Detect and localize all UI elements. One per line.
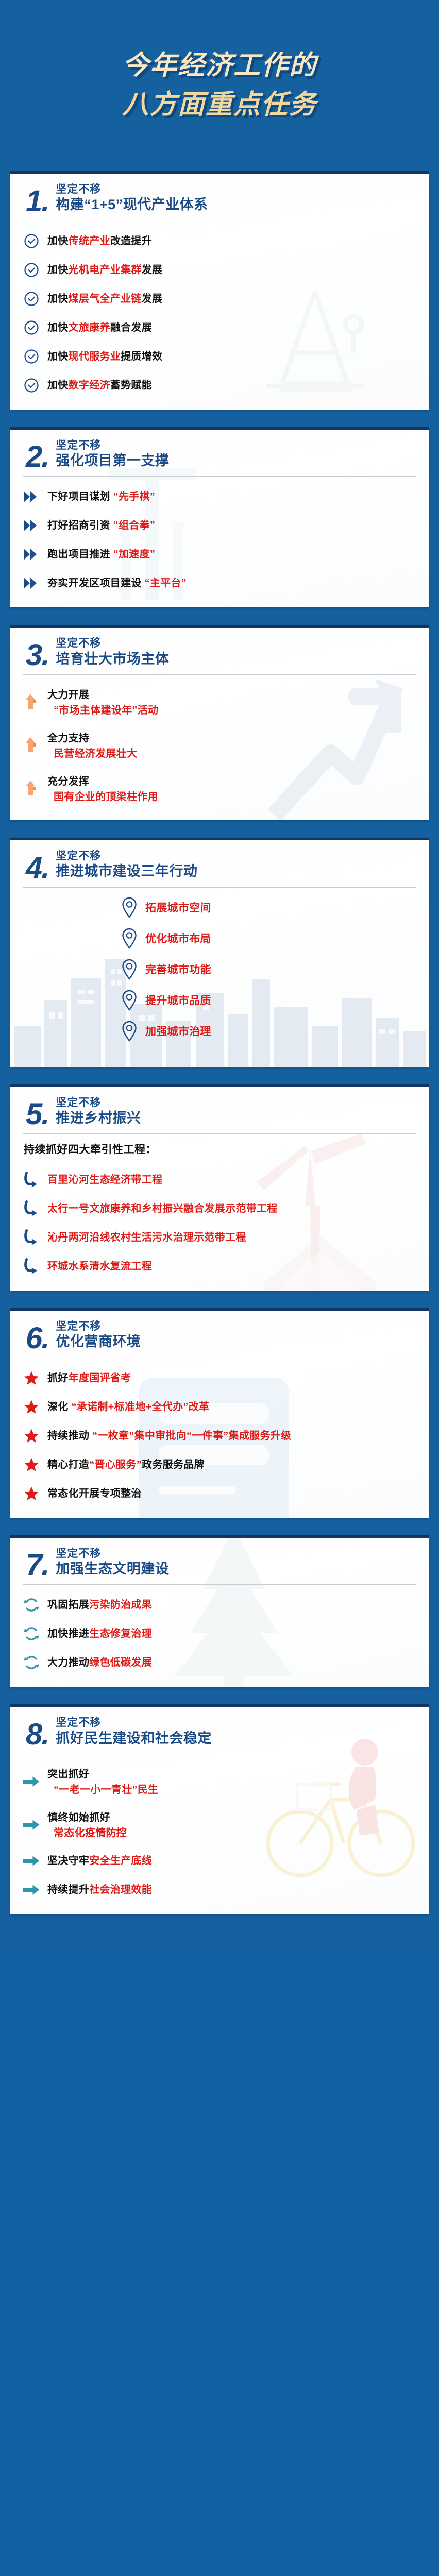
item-highlight: 光机电产业集群 xyxy=(69,264,142,276)
item-text: 完善城市功能 xyxy=(145,964,211,976)
item-prefix: 精心打造 xyxy=(47,1459,89,1470)
item-label: 拓展城市空间 xyxy=(145,899,211,917)
section-card-3: 3. 坚定不移 培育壮大市场主体 大力开展 “市场主体建设年”活动 xyxy=(10,625,429,820)
section-subtitle: 坚定不移 xyxy=(56,183,208,196)
item-line-1: 充分发挥 xyxy=(47,774,158,789)
item-label: 环城水系清水复流工程 xyxy=(47,1258,152,1274)
check-circle-icon xyxy=(23,290,40,308)
check-circle-icon xyxy=(23,319,40,336)
item-text: 沁丹两河沿线农村生活污水治理示范带工程 xyxy=(47,1232,246,1243)
item-highlight: 文旅康养 xyxy=(69,322,110,333)
section-header: 5. 坚定不移 推进乡村振兴 xyxy=(23,1096,416,1132)
item-prefix: 加快 xyxy=(47,322,69,333)
item-text: 提升城市品质 xyxy=(145,995,211,1007)
list-item[interactable]: 坚决守牢安全生产底线 xyxy=(23,1852,416,1870)
hero-title-line2: 八方面重点任务 xyxy=(122,87,317,123)
section-header: 3. 坚定不移 培育壮大市场主体 xyxy=(23,637,416,672)
section-item-list: 拓展城市空间 优化城市布局 完善城市功能 提升城市品质 xyxy=(23,888,416,1040)
map-pin-icon xyxy=(121,930,138,947)
section-header: 7. 坚定不移 加强生态文明建设 xyxy=(23,1547,416,1583)
item-text: 环城水系清水复流工程 xyxy=(47,1261,152,1272)
list-item[interactable]: 加快煤层气全产业链发展 xyxy=(23,290,416,308)
section-header: 1. 坚定不移 构建“1+5”现代产业体系 xyxy=(23,183,416,218)
item-label: 加快数字经济蓄势赋能 xyxy=(47,377,152,393)
list-item[interactable]: 大力开展 “市场主体建设年”活动 xyxy=(23,686,416,718)
star-icon xyxy=(23,1427,40,1445)
list-item[interactable]: 巩固拓展污染防治成果 xyxy=(23,1596,416,1614)
item-highlight: 生态修复治理 xyxy=(89,1628,152,1639)
list-item[interactable]: 加快数字经济蓄势赋能 xyxy=(23,377,416,394)
section-title: 优化营商环境 xyxy=(56,1333,141,1350)
item-label: 加快煤层气全产业链发展 xyxy=(47,290,162,307)
item-label: 加快现代服务业提质增效 xyxy=(47,348,162,364)
item-label: 深化 “承诺制+标准地+全代办”改革 xyxy=(47,1398,209,1415)
teal-arrow-icon xyxy=(23,1852,40,1870)
item-line-2: 民营经济发展壮大 xyxy=(47,746,137,761)
check-circle-icon xyxy=(23,261,40,279)
item-highlight: “组合拳” xyxy=(113,520,156,531)
section-number: 7. xyxy=(23,1552,48,1578)
item-line-1: 慎终如始抓好 xyxy=(47,1810,127,1825)
orange-up-arrow-icon xyxy=(23,780,40,798)
section-number: 1. xyxy=(23,188,48,214)
item-label: 精心打造“晋心服务”政务服务品牌 xyxy=(47,1456,205,1472)
item-label: 坚决守牢安全生产底线 xyxy=(47,1852,152,1869)
item-line-1: 大力开展 xyxy=(47,687,158,703)
item-suffix: 蓄势赋能 xyxy=(110,380,152,391)
list-item[interactable]: 下好项目谋划 “先手棋” xyxy=(23,488,416,505)
star-icon xyxy=(23,1369,40,1387)
item-label: 全力支持 民营经济发展壮大 xyxy=(47,730,137,761)
item-prefix: 夯实开发区项目建设 xyxy=(47,578,145,589)
double-chevron-icon xyxy=(23,488,40,505)
list-item[interactable]: 常态化开展专项整治 xyxy=(23,1485,416,1502)
item-prefix: 打好招商引资 xyxy=(47,520,113,531)
section-header: 4. 坚定不移 推进城市建设三年行动 xyxy=(23,850,416,885)
item-line-2: 国有企业的顶梁柱作用 xyxy=(47,789,158,805)
section-card-8: 8. 坚定不移 抓好民生建设和社会稳定 突出抓好 “一老一小一青壮”民生 xyxy=(10,1704,429,1914)
item-label: 优化城市布局 xyxy=(145,930,211,947)
item-highlight: “加速度” xyxy=(113,549,156,560)
list-item[interactable]: 加快传统产业改造提升 xyxy=(23,232,416,250)
item-highlight: 传统产业 xyxy=(69,235,110,247)
map-pin-icon xyxy=(121,961,138,978)
section-number: 5. xyxy=(23,1101,48,1127)
list-item[interactable]: 太行一号文旅康养和乡村振兴融合发展示范带工程 xyxy=(23,1200,416,1217)
list-item[interactable]: 全力支持 民营经济发展壮大 xyxy=(23,730,416,761)
teal-arrow-icon xyxy=(23,1773,40,1790)
item-highlight: “一枚章”集中审批向“一件事”集成服务升级 xyxy=(92,1430,291,1442)
item-label: 常态化开展专项整治 xyxy=(47,1485,142,1501)
list-item[interactable]: 跑出项目推进 “加速度” xyxy=(23,546,416,563)
item-label: 提升城市品质 xyxy=(145,992,211,1009)
item-prefix: 抓好 xyxy=(47,1372,69,1384)
item-label: 加快推进生态修复治理 xyxy=(47,1625,152,1641)
item-prefix: 加快 xyxy=(47,235,69,247)
list-item[interactable]: 持续提升社会治理效能 xyxy=(23,1881,416,1899)
list-item[interactable]: 加快推进生态修复治理 xyxy=(23,1625,416,1642)
section-title: 培育壮大市场主体 xyxy=(56,651,169,667)
item-label: 完善城市功能 xyxy=(145,961,211,978)
list-item[interactable]: 大力推动绿色低碳发展 xyxy=(23,1654,416,1671)
section-number: 2. xyxy=(23,444,48,470)
item-prefix: 跑出项目推进 xyxy=(47,549,113,560)
star-icon xyxy=(23,1398,40,1416)
item-label: 下好项目谋划 “先手棋” xyxy=(47,488,155,504)
item-highlight: “先手棋” xyxy=(113,491,156,502)
item-highlight: “承诺制+标准地+全代办”改革 xyxy=(71,1401,209,1413)
item-suffix: 发展 xyxy=(142,293,163,304)
list-item[interactable]: 优化城市布局 xyxy=(23,930,416,947)
item-highlight: 社会治理效能 xyxy=(89,1884,152,1895)
item-prefix: 常态化开展专项整治 xyxy=(47,1488,142,1499)
item-line-1: 突出抓好 xyxy=(47,1767,158,1782)
section-title: 推进乡村振兴 xyxy=(56,1110,141,1126)
item-label: 跑出项目推进 “加速度” xyxy=(47,546,155,562)
item-line-1: 全力支持 xyxy=(47,731,137,746)
item-label: 加快文旅康养融合发展 xyxy=(47,319,152,335)
map-pin-icon xyxy=(121,992,138,1009)
section-item-list: 百里沁河生态经济带工程 太行一号文旅康养和乡村振兴融合发展示范带工程 沁丹两河沿… xyxy=(23,1160,416,1275)
section-item-list: 突出抓好 “一老一小一青壮”民生 慎终如始抓好 常态化疫情防控 坚决守牢安全生产… xyxy=(23,1754,416,1899)
double-chevron-icon xyxy=(23,517,40,534)
section-header: 8. 坚定不移 抓好民生建设和社会稳定 xyxy=(23,1716,416,1752)
section-subtitle: 坚定不移 xyxy=(56,1320,141,1333)
bottom-spacer xyxy=(0,1931,439,1935)
section-title: 抓好民生建设和社会稳定 xyxy=(56,1730,212,1747)
check-circle-icon xyxy=(23,377,40,394)
map-pin-icon xyxy=(121,899,138,917)
check-circle-icon xyxy=(23,348,40,365)
item-text: 太行一号文旅康养和乡村振兴融合发展示范带工程 xyxy=(47,1203,278,1214)
section-subtitle: 坚定不移 xyxy=(56,637,169,650)
recycle-icon xyxy=(23,1596,40,1614)
list-item[interactable]: 打好招商引资 “组合拳” xyxy=(23,517,416,534)
item-prefix: 巩固拓展 xyxy=(47,1599,89,1611)
section-subtitle: 坚定不移 xyxy=(56,439,169,452)
item-highlight: “主平台” xyxy=(145,578,187,589)
item-prefix: 加快 xyxy=(47,264,69,276)
item-highlight: 污染防治成果 xyxy=(89,1599,152,1611)
section-card-7: 7. 坚定不移 加强生态文明建设 巩固拓展污染防治成果 xyxy=(10,1535,429,1687)
double-chevron-icon xyxy=(23,574,40,592)
item-label: 充分发挥 国有企业的顶梁柱作用 xyxy=(47,773,158,805)
section-card-4: 4. 坚定不移 推进城市建设三年行动 拓展城市空间 优化城 xyxy=(10,838,429,1067)
item-suffix: 政务服务品牌 xyxy=(142,1459,205,1470)
section-item-list: 抓好年度国评省考 深化 “承诺制+标准地+全代办”改革 持续推动 “一枚章”集中… xyxy=(23,1358,416,1502)
item-label: 加强城市治理 xyxy=(145,1023,211,1040)
item-label: 大力开展 “市场主体建设年”活动 xyxy=(47,686,158,718)
item-suffix: 融合发展 xyxy=(110,322,152,333)
item-label: 沁丹两河沿线农村生活污水治理示范带工程 xyxy=(47,1229,246,1245)
section-number: 6. xyxy=(23,1325,48,1351)
list-item[interactable]: 拓展城市空间 xyxy=(23,899,416,917)
section-card-1: 1. 坚定不移 构建“1+5”现代产业体系 加快传统产业改造提升 xyxy=(10,171,429,410)
item-label: 持续推动 “一枚章”集中审批向“一件事”集成服务升级 xyxy=(47,1427,291,1444)
item-highlight: 年度国评省考 xyxy=(69,1372,131,1384)
item-label: 持续提升社会治理效能 xyxy=(47,1881,152,1897)
recycle-icon xyxy=(23,1625,40,1642)
section-number: 8. xyxy=(23,1721,48,1748)
item-label: 加快光机电产业集群发展 xyxy=(47,261,162,278)
curved-arrow-icon xyxy=(23,1200,40,1217)
item-suffix: 提质增效 xyxy=(121,351,162,362)
item-prefix: 持续推动 xyxy=(47,1430,92,1442)
item-text: 优化城市布局 xyxy=(145,933,211,945)
item-label: 巩固拓展污染防治成果 xyxy=(47,1596,152,1613)
item-line-2: 常态化疫情防控 xyxy=(47,1825,127,1841)
section-header: 2. 坚定不移 强化项目第一支撑 xyxy=(23,439,416,474)
list-item[interactable]: 抓好年度国评省考 xyxy=(23,1369,416,1387)
list-item[interactable]: 完善城市功能 xyxy=(23,961,416,978)
item-highlight: 现代服务业 xyxy=(69,351,121,362)
section-item-list: 大力开展 “市场主体建设年”活动 全力支持 民营经济发展壮大 充分发挥 国有企业… xyxy=(23,675,416,805)
star-icon xyxy=(23,1485,40,1502)
list-item[interactable]: 慎终如始抓好 常态化疫情防控 xyxy=(23,1809,416,1841)
list-item[interactable]: 沁丹两河沿线农村生活污水治理示范带工程 xyxy=(23,1229,416,1246)
list-item[interactable]: 环城水系清水复流工程 xyxy=(23,1258,416,1275)
section-item-list: 下好项目谋划 “先手棋” 打好招商引资 “组合拳” 跑出项目推进 “加速度” xyxy=(23,477,416,592)
list-item[interactable]: 夯实开发区项目建设 “主平台” xyxy=(23,574,416,592)
section-subtitle: 坚定不移 xyxy=(56,850,197,863)
section-header: 6. 坚定不移 优化营商环境 xyxy=(23,1320,416,1355)
item-text: 拓展城市空间 xyxy=(145,902,211,914)
list-item[interactable]: 提升城市品质 xyxy=(23,992,416,1009)
item-text: 百里沁河生态经济带工程 xyxy=(47,1174,162,1185)
item-highlight: 安全生产底线 xyxy=(89,1855,152,1867)
section-title: 强化项目第一支撑 xyxy=(56,452,169,469)
item-prefix: 坚决守牢 xyxy=(47,1855,89,1867)
item-suffix: 发展 xyxy=(142,264,163,276)
star-icon xyxy=(23,1456,40,1473)
item-suffix: 改造提升 xyxy=(110,235,152,247)
item-highlight: 煤层气全产业链 xyxy=(69,293,142,304)
hero-title-line1: 今年经济工作的 xyxy=(122,48,317,84)
section-card-5: 5. 坚定不移 推进乡村振兴 持续抓好四大牵引性工程： 百里沁河生态经济带工程 xyxy=(10,1084,429,1291)
recycle-icon xyxy=(23,1654,40,1671)
section-title: 构建“1+5”现代产业体系 xyxy=(56,196,208,213)
orange-up-arrow-icon xyxy=(23,693,40,711)
teal-arrow-icon xyxy=(23,1816,40,1834)
double-chevron-icon xyxy=(23,546,40,563)
item-label: 加快传统产业改造提升 xyxy=(47,232,152,249)
list-item[interactable]: 精心打造“晋心服务”政务服务品牌 xyxy=(23,1456,416,1473)
section-subtitle: 坚定不移 xyxy=(56,1716,212,1730)
item-highlight: 数字经济 xyxy=(69,380,110,391)
list-item[interactable]: 加快光机电产业集群发展 xyxy=(23,261,416,279)
section-title: 推进城市建设三年行动 xyxy=(56,863,197,879)
item-label: 慎终如始抓好 常态化疫情防控 xyxy=(47,1809,127,1841)
item-prefix: 加快 xyxy=(47,293,69,304)
section-subtitle: 坚定不移 xyxy=(56,1547,169,1561)
section-leadin: 持续抓好四大牵引性工程： xyxy=(23,1134,416,1160)
item-label: 抓好年度国评省考 xyxy=(47,1369,131,1386)
item-label: 太行一号文旅康养和乡村振兴融合发展示范带工程 xyxy=(47,1200,278,1216)
item-label: 大力推动绿色低碳发展 xyxy=(47,1654,152,1670)
item-text: 加强城市治理 xyxy=(145,1026,211,1038)
orange-up-arrow-icon xyxy=(23,737,40,754)
section-number: 3. xyxy=(23,642,48,668)
section-card-2: 2. 坚定不移 强化项目第一支撑 下好项目谋划 “先手棋” xyxy=(10,427,429,608)
teal-arrow-icon xyxy=(23,1881,40,1899)
infographic-poster: 今年经济工作的 八方面重点任务 1. 坚定不移 构建“1+5”现代产业体系 xyxy=(0,0,439,1956)
list-item[interactable]: 百里沁河生态经济带工程 xyxy=(23,1171,416,1189)
item-prefix: 持续提升 xyxy=(47,1884,89,1895)
item-label: 突出抓好 “一老一小一青壮”民生 xyxy=(47,1766,158,1798)
curved-arrow-icon xyxy=(23,1258,40,1275)
item-highlight: 绿色低碳发展 xyxy=(89,1657,152,1668)
section-item-list: 巩固拓展污染防治成果 加快推进生态修复治理 大力推动绿色低碳发展 xyxy=(23,1585,416,1671)
hero-banner: 今年经济工作的 八方面重点任务 xyxy=(0,0,439,171)
list-item[interactable]: 加快文旅康养融合发展 xyxy=(23,319,416,336)
map-pin-icon xyxy=(121,1023,138,1040)
item-prefix: 加快 xyxy=(47,380,69,391)
list-item[interactable]: 充分发挥 国有企业的顶梁柱作用 xyxy=(23,773,416,805)
check-circle-icon xyxy=(23,232,40,250)
list-item[interactable]: 加快现代服务业提质增效 xyxy=(23,348,416,365)
item-label: 百里沁河生态经济带工程 xyxy=(47,1171,162,1188)
item-prefix: 下好项目谋划 xyxy=(47,491,113,502)
curved-arrow-icon xyxy=(23,1229,40,1246)
item-highlight: “晋心服务” xyxy=(89,1459,142,1470)
list-item[interactable]: 突出抓好 “一老一小一青壮”民生 xyxy=(23,1766,416,1798)
list-item[interactable]: 深化 “承诺制+标准地+全代办”改革 xyxy=(23,1398,416,1416)
item-label: 夯实开发区项目建设 “主平台” xyxy=(47,574,187,591)
item-prefix: 加快推进 xyxy=(47,1628,89,1639)
item-prefix: 深化 xyxy=(47,1401,71,1413)
section-card-6: 6. 坚定不移 优化营商环境 抓好年度国评省考 深化 “承诺制+标准地+全代办”… xyxy=(10,1308,429,1518)
item-label: 打好招商引资 “组合拳” xyxy=(47,517,155,533)
section-number: 4. xyxy=(23,855,48,881)
curved-arrow-icon xyxy=(23,1171,40,1189)
section-item-list: 加快传统产业改造提升 加快光机电产业集群发展 加快煤层气全产业链发展 xyxy=(23,221,416,394)
item-line-2: “市场主体建设年”活动 xyxy=(47,703,158,718)
list-item[interactable]: 持续推动 “一枚章”集中审批向“一件事”集成服务升级 xyxy=(23,1427,416,1445)
section-subtitle: 坚定不移 xyxy=(56,1096,141,1110)
list-item[interactable]: 加强城市治理 xyxy=(23,1023,416,1040)
item-line-2: “一老一小一青壮”民生 xyxy=(47,1782,158,1798)
item-prefix: 加快 xyxy=(47,351,69,362)
section-title: 加强生态文明建设 xyxy=(56,1561,169,1577)
item-prefix: 大力推动 xyxy=(47,1657,89,1668)
